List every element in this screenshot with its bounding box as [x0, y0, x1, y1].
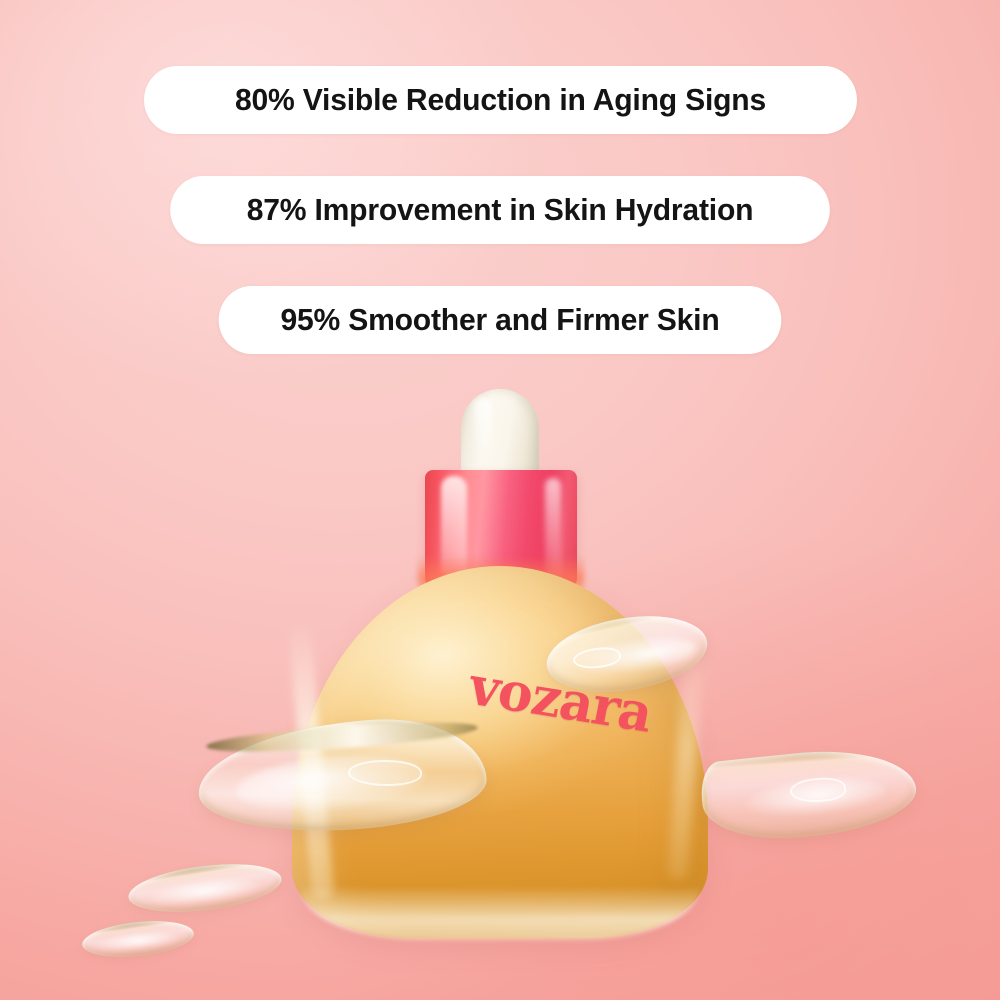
dropper-bulb-highlight [474, 398, 492, 464]
dropper-rubber-bulb [461, 389, 539, 479]
serum-droplet-left-bubble [348, 760, 422, 786]
product-promo-canvas: 80% Visible Reduction in Aging Signs 87%… [0, 0, 1000, 1000]
bottle-base-rim [300, 886, 700, 940]
serum-bottle: vozara [0, 0, 1000, 1000]
